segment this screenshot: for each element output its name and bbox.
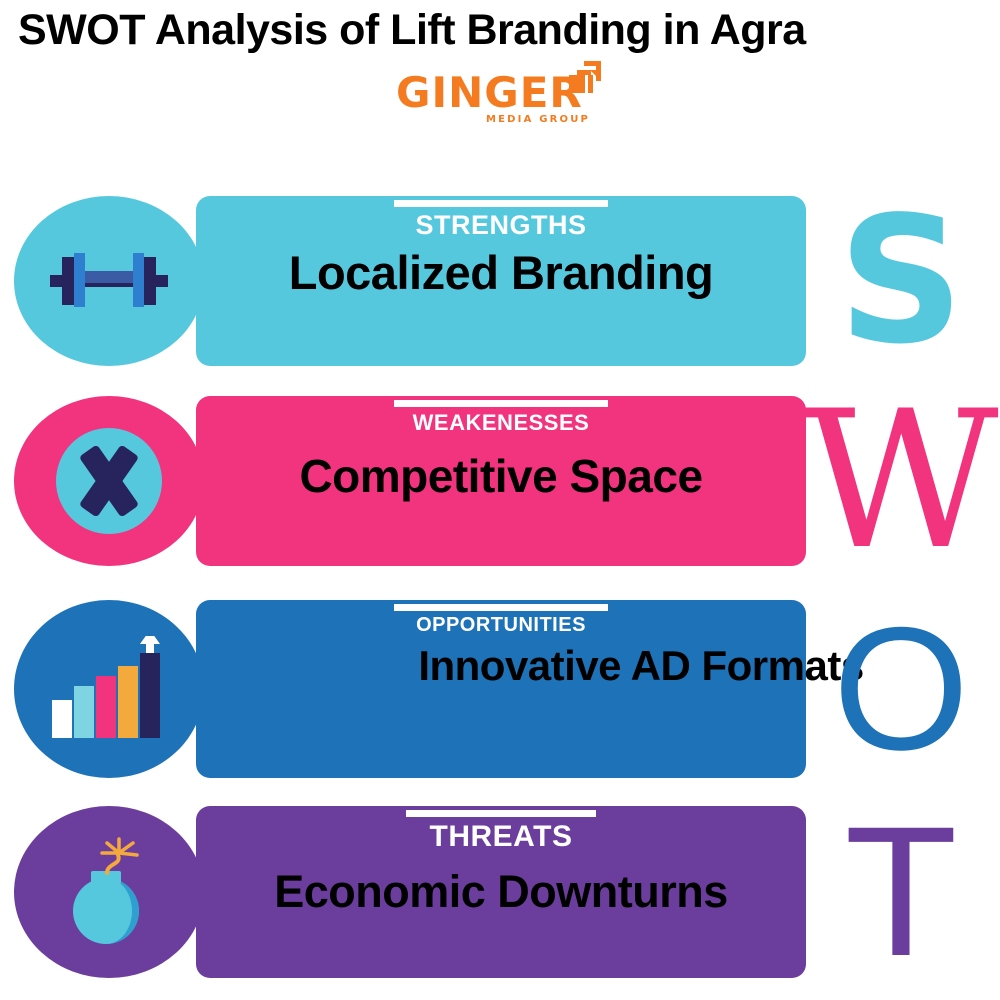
- dumbbell-icon: [50, 246, 168, 316]
- strengths-divider: [394, 200, 608, 207]
- strengths-letter-s: S: [812, 196, 990, 366]
- threats-headline: Economic Downturns: [196, 868, 806, 915]
- weaknesses-letter-w: W: [812, 396, 990, 566]
- opportunities-bar: OPPORTUNITIES Innovative AD Formats: [196, 600, 806, 778]
- weaknesses-headline: Competitive Space: [196, 452, 806, 500]
- threats-icon-circle: [14, 806, 204, 978]
- page-title: SWOT Analysis of Lift Branding in Agra: [18, 6, 988, 55]
- opportunities-icon-circle: [14, 600, 204, 778]
- opportunities-category-label: OPPORTUNITIES: [196, 614, 806, 637]
- strengths-icon-circle: [14, 196, 204, 366]
- weaknesses-bar: WEAKENESSES Competitive Space: [196, 396, 806, 566]
- threats-bar: THREATS Economic Downturns: [196, 806, 806, 978]
- swot-row-opportunities: OPPORTUNITIES Innovative AD Formats O: [0, 600, 1000, 778]
- strengths-headline: Localized Branding: [196, 248, 806, 297]
- strengths-category-label: STRENGTHS: [196, 210, 806, 241]
- swot-row-threats: THREATS Economic Downturns T: [0, 806, 1000, 978]
- bomb-icon: [50, 833, 168, 951]
- ginger-media-group-logo: GINGER MEDIA GROUP: [396, 62, 596, 152]
- logo-wordmark: GINGER: [396, 68, 583, 117]
- threats-category-label: THREATS: [196, 820, 806, 854]
- header: SWOT Analysis of Lift Branding in Agra G…: [0, 0, 1000, 180]
- threats-letter-t: T: [812, 806, 990, 978]
- threats-divider: [406, 810, 596, 817]
- strengths-bar: STRENGTHS Localized Branding: [196, 196, 806, 366]
- opportunities-divider: [394, 604, 608, 611]
- growth-bar-chart-icon: [50, 636, 168, 742]
- swot-row-strengths: STRENGTHS Localized Branding S: [0, 196, 1000, 366]
- cross-mark-icon: [48, 420, 170, 542]
- opportunities-letter-o: O: [812, 600, 990, 778]
- weaknesses-category-label: WEAKENESSES: [196, 410, 806, 436]
- weaknesses-divider: [394, 400, 608, 407]
- swot-row-weaknesses: WEAKENESSES Competitive Space W: [0, 396, 1000, 566]
- weaknesses-icon-circle: [14, 396, 204, 566]
- bar-chart-arrow-mark-icon: [568, 60, 602, 96]
- logo-tagline: MEDIA GROUP: [486, 114, 590, 125]
